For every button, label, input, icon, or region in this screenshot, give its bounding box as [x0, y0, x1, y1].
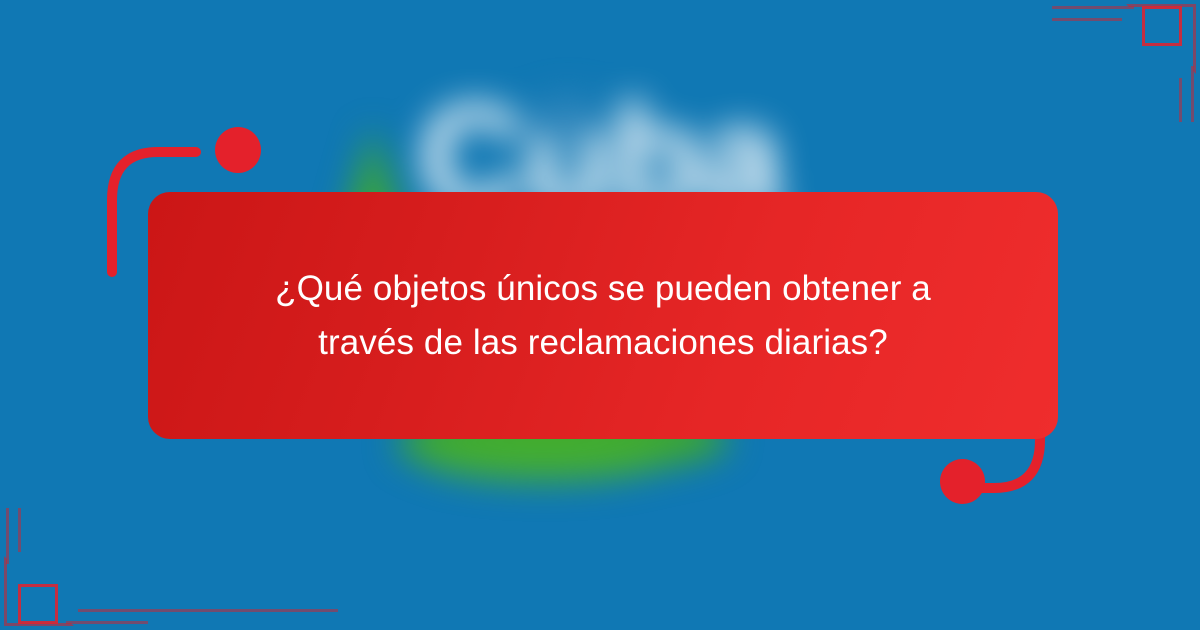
corner-line-bottom-left-horizontal: [66, 621, 148, 624]
question-card: ¿Qué objetos únicos se pueden obtener a …: [148, 192, 1058, 439]
corner-line-top-right-horizontal: [1052, 6, 1134, 9]
corner-square-bottom-left: [18, 584, 58, 624]
corner-square-top-right: [1142, 6, 1182, 46]
accent-dot-top-left: [215, 127, 261, 173]
corner-line-bottom-left-vertical-2: [18, 508, 21, 552]
corner-line-top-right-vertical-2: [1179, 78, 1182, 122]
corner-line-bottom-left-vertical: [6, 508, 9, 564]
logo-blue-accent-shape: [524, 96, 602, 140]
corner-line-top-right-vertical: [1191, 66, 1194, 122]
social-card-canvas: Cuba ¿Qué objetos únicos se pueden obten…: [0, 0, 1200, 630]
corner-line-bottom-left-horizontal-2: [78, 609, 338, 612]
question-text: ¿Qué objetos únicos se pueden obtener a …: [238, 262, 968, 368]
corner-line-top-right-horizontal-2: [1052, 18, 1122, 21]
accent-dot-bottom-right: [940, 459, 985, 504]
